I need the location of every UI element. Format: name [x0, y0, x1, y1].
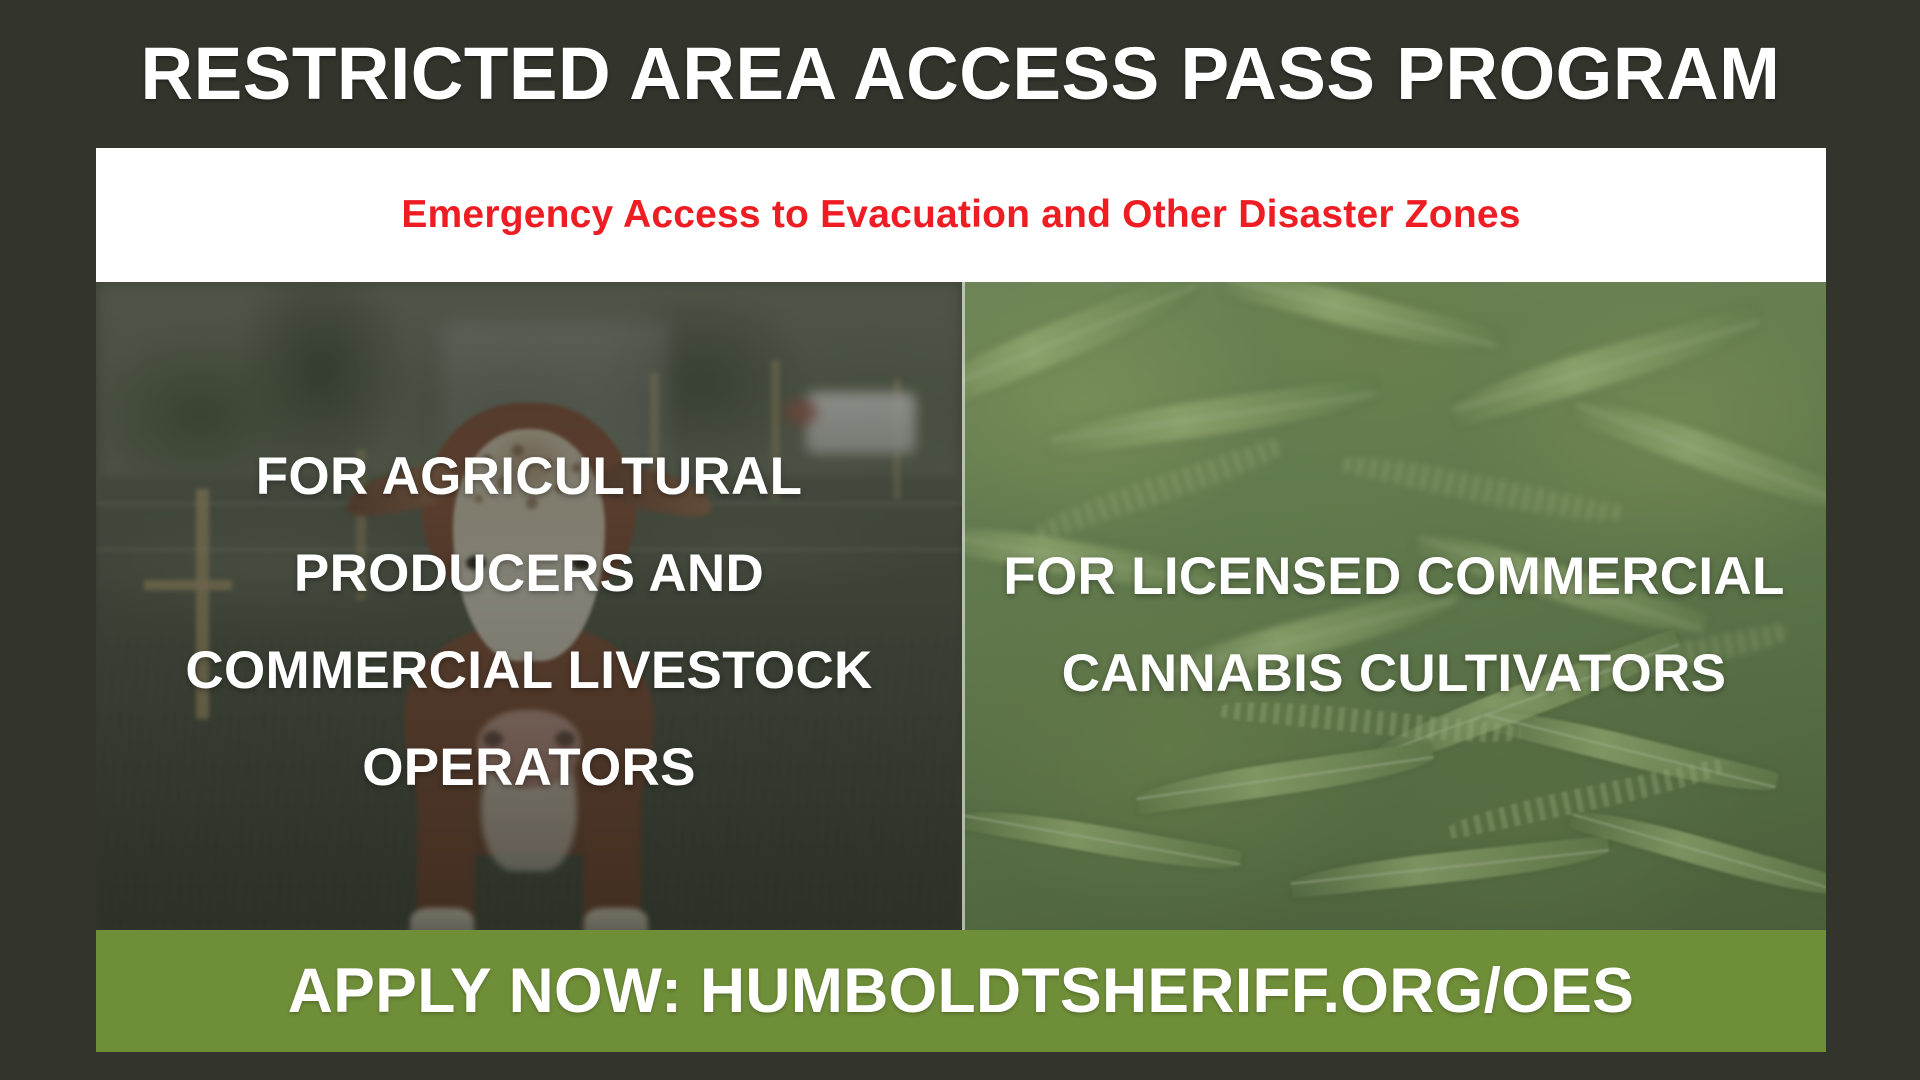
- panels-row: FOR AGRICULTURAL PRODUCERS AND COMMERCIA…: [96, 282, 1826, 930]
- panel-caption-agricultural: FOR AGRICULTURAL PRODUCERS AND COMMERCIA…: [96, 428, 962, 816]
- subtitle-band: Emergency Access to Evacuation and Other…: [96, 148, 1826, 282]
- subtitle-text: Emergency Access to Evacuation and Other…: [401, 193, 1520, 237]
- title-bar: RESTRICTED AREA ACCESS PASS PROGRAM: [0, 0, 1920, 148]
- panel-cannabis: FOR LICENSED COMMERCIAL CANNABIS CULTIVA…: [962, 282, 1826, 930]
- panel-caption-cannabis: FOR LICENSED COMMERCIAL CANNABIS CULTIVA…: [962, 528, 1826, 722]
- apply-now-bar[interactable]: APPLY NOW: HUMBOLDTSHERIFF.ORG/OES: [96, 930, 1826, 1052]
- page-title: RESTRICTED AREA ACCESS PASS PROGRAM: [140, 37, 1780, 111]
- content-frame: Emergency Access to Evacuation and Other…: [96, 148, 1826, 1052]
- poster-root: RESTRICTED AREA ACCESS PASS PROGRAM Emer…: [0, 0, 1920, 1080]
- apply-now-text[interactable]: APPLY NOW: HUMBOLDTSHERIFF.ORG/OES: [288, 955, 1634, 1027]
- panel-agricultural: FOR AGRICULTURAL PRODUCERS AND COMMERCIA…: [96, 282, 962, 930]
